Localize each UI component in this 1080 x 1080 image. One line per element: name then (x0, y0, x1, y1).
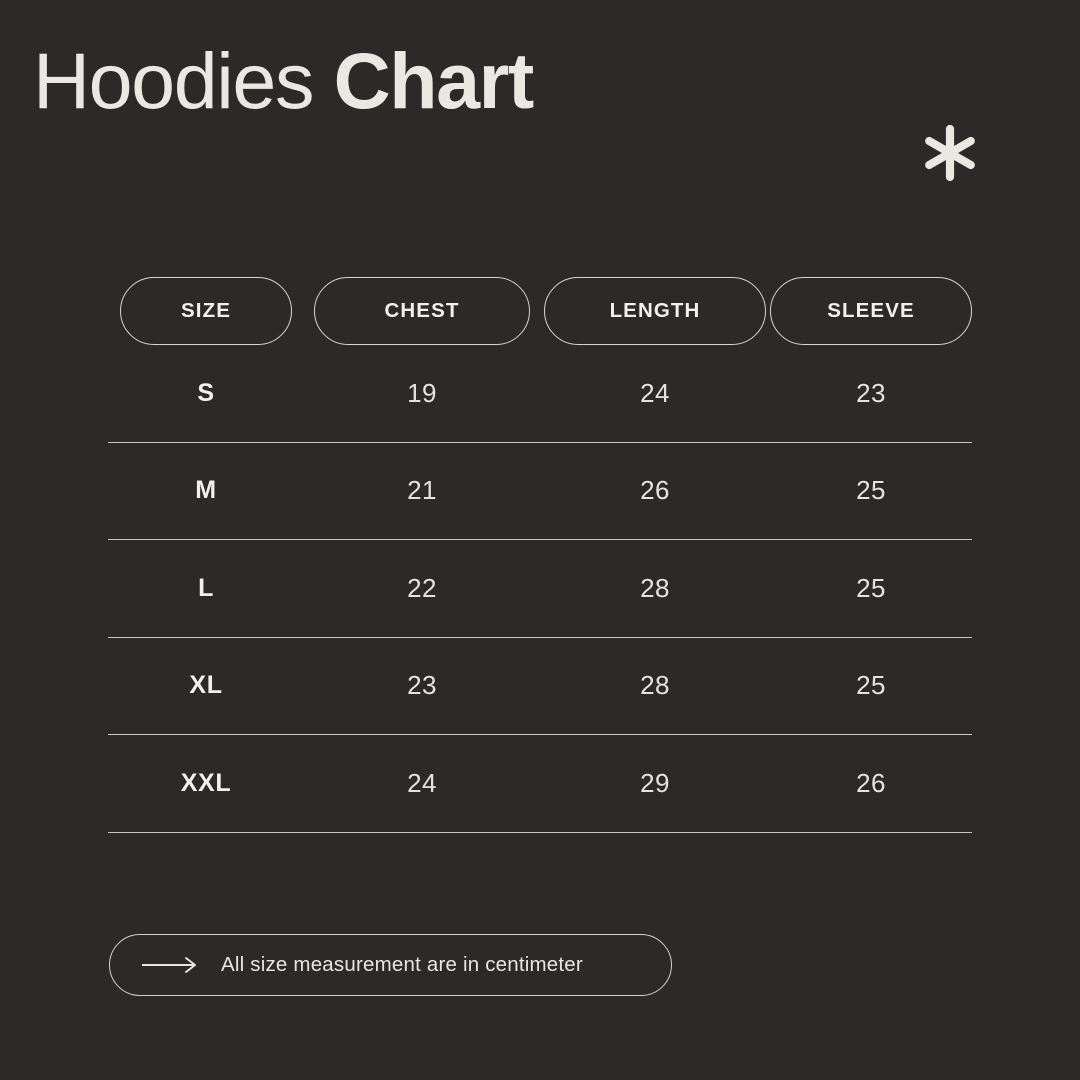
length-value: 29 (640, 768, 670, 799)
cell-size: XL (108, 671, 304, 700)
sleeve-value: 25 (856, 475, 886, 506)
chest-value: 23 (407, 670, 437, 701)
table-header-row: SIZE CHEST LENGTH SLEEVE (108, 277, 972, 345)
chest-value: 24 (407, 768, 437, 799)
cell-chest: 21 (304, 475, 540, 506)
arrow-right-icon (141, 956, 199, 974)
sleeve-value: 26 (856, 768, 886, 799)
header-cell-size: SIZE (108, 277, 304, 345)
sleeve-value: 25 (856, 573, 886, 604)
table-row: M 21 26 25 (108, 443, 972, 541)
size-table: SIZE CHEST LENGTH SLEEVE S 19 24 23 M 21… (108, 277, 972, 833)
size-label: M (195, 476, 216, 505)
title-light-part: Hoodies (33, 36, 313, 125)
sleeve-value: 25 (856, 670, 886, 701)
chest-value: 19 (407, 378, 437, 409)
chest-value: 22 (407, 573, 437, 604)
cell-chest: 24 (304, 768, 540, 799)
header-pill-sleeve[interactable]: SLEEVE (770, 277, 972, 345)
cell-chest: 22 (304, 573, 540, 604)
header-cell-sleeve: SLEEVE (770, 277, 972, 345)
cell-length: 28 (540, 573, 770, 604)
cell-length: 29 (540, 768, 770, 799)
header-pill-size[interactable]: SIZE (120, 277, 292, 345)
title-bold-part: Chart (334, 36, 533, 125)
cell-length: 28 (540, 670, 770, 701)
length-value: 28 (640, 573, 670, 604)
sleeve-value: 23 (856, 378, 886, 409)
table-row: XXL 24 29 26 (108, 735, 972, 833)
asterisk-icon (921, 124, 979, 182)
cell-sleeve: 25 (770, 573, 972, 604)
table-row: XL 23 28 25 (108, 638, 972, 736)
size-label: XL (189, 671, 222, 700)
size-chart-page: Hoodies Chart SIZE CHEST LENGTH SLEEVE (0, 0, 1080, 1080)
cell-size: XXL (108, 769, 304, 798)
size-label: XXL (181, 769, 231, 798)
page-title: Hoodies Chart (33, 41, 533, 122)
unit-note-text: All size measurement are in centimeter (221, 953, 583, 977)
cell-chest: 23 (304, 670, 540, 701)
cell-sleeve: 26 (770, 768, 972, 799)
length-value: 26 (640, 475, 670, 506)
cell-length: 26 (540, 475, 770, 506)
header-cell-chest: CHEST (304, 277, 540, 345)
table-row: L 22 28 25 (108, 540, 972, 638)
size-label: L (198, 574, 214, 603)
cell-sleeve: 25 (770, 670, 972, 701)
header-pill-chest[interactable]: CHEST (314, 277, 530, 345)
cell-length: 24 (540, 378, 770, 409)
cell-size: M (108, 476, 304, 505)
cell-sleeve: 23 (770, 378, 972, 409)
length-value: 28 (640, 670, 670, 701)
header-pill-length[interactable]: LENGTH (544, 277, 766, 345)
chest-value: 21 (407, 475, 437, 506)
cell-size: S (108, 379, 304, 408)
cell-size: L (108, 574, 304, 603)
cell-chest: 19 (304, 378, 540, 409)
table-row: S 19 24 23 (108, 345, 972, 443)
size-label: S (197, 379, 214, 408)
cell-sleeve: 25 (770, 475, 972, 506)
unit-note-pill[interactable]: All size measurement are in centimeter (109, 934, 672, 996)
header-cell-length: LENGTH (540, 277, 770, 345)
length-value: 24 (640, 378, 670, 409)
